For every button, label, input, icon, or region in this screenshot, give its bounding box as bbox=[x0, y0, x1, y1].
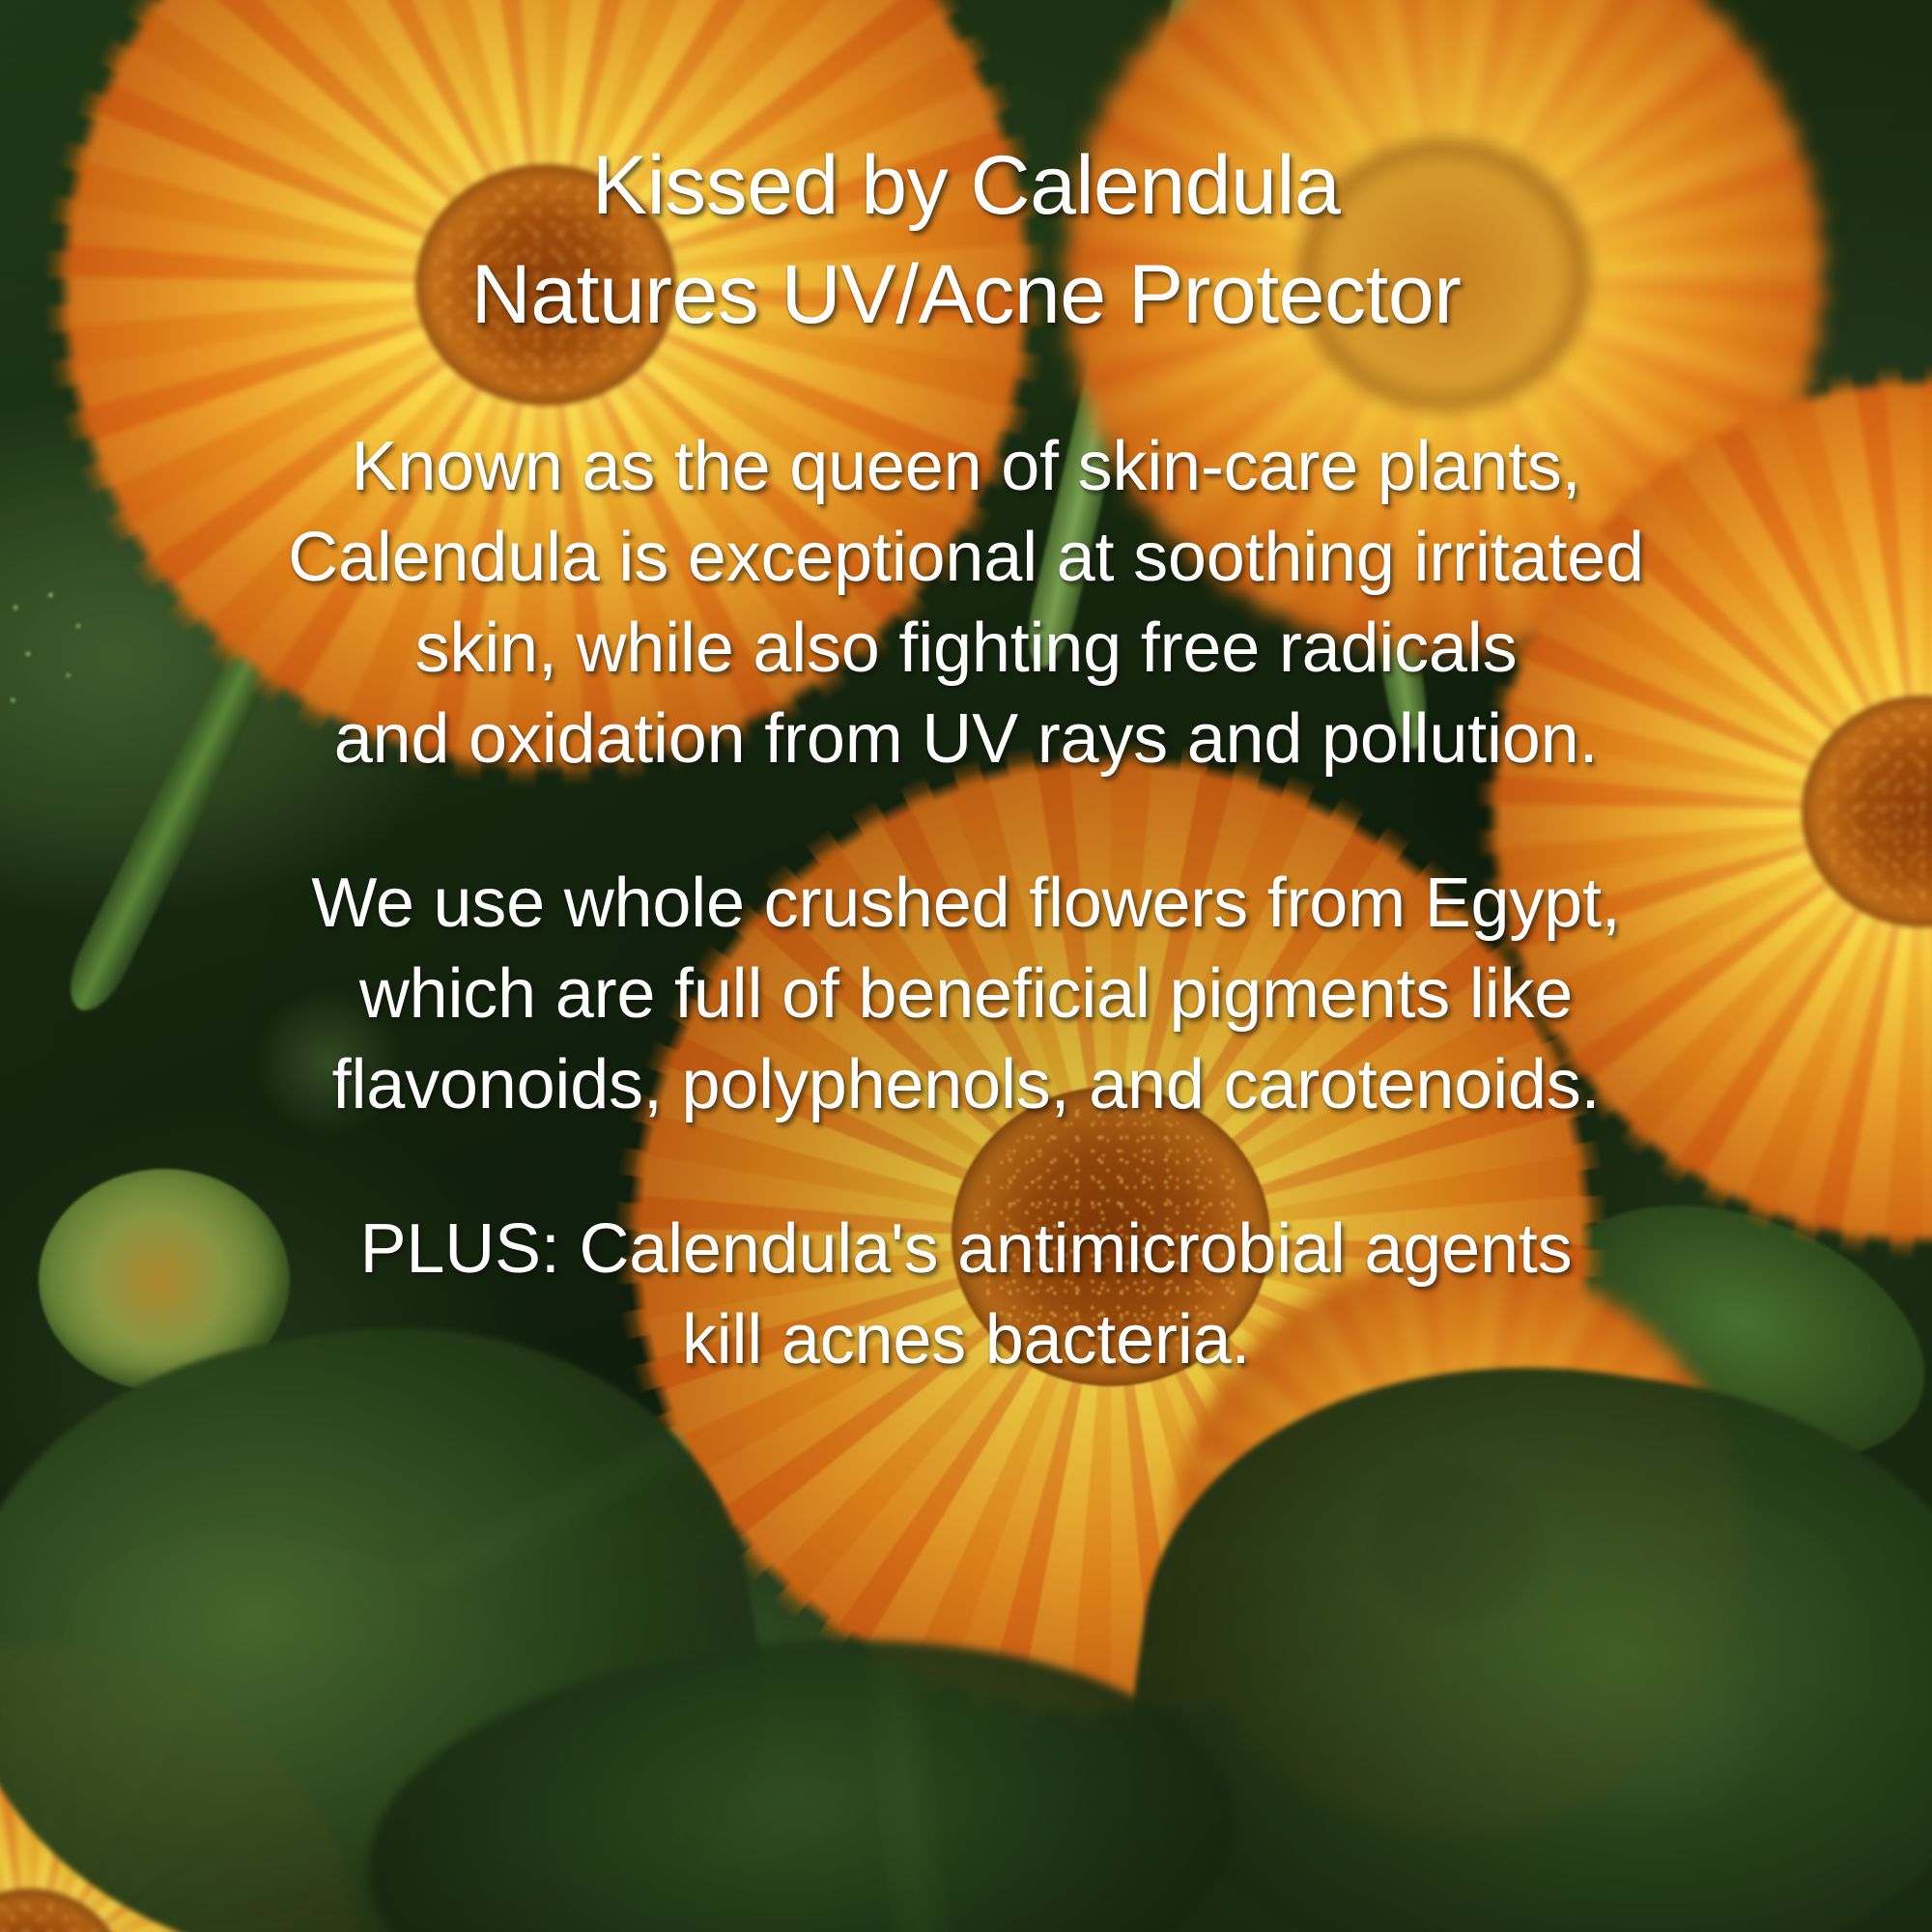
body-line: We use whole crushed flowers from Egypt, bbox=[63, 858, 1869, 949]
body-line: Known as the queen of skin-care plants, bbox=[63, 421, 1869, 512]
paragraph-queen-of-skincare: Known as the queen of skin-care plants, … bbox=[63, 421, 1869, 784]
headline-line-1: Kissed by Calendula bbox=[592, 139, 1341, 232]
text-overlay: Kissed by Calendula Natures UV/Acne Prot… bbox=[0, 0, 1932, 1932]
body-copy: Known as the queen of skin-care plants, … bbox=[63, 421, 1869, 1385]
calendula-promo-graphic: Kissed by Calendula Natures UV/Acne Prot… bbox=[0, 0, 1932, 1932]
paragraph-whole-crushed-flowers: We use whole crushed flowers from Egypt,… bbox=[63, 858, 1869, 1130]
body-line: and oxidation from UV rays and pollution… bbox=[63, 694, 1869, 784]
paragraph-antimicrobial: PLUS: Calendula's antimicrobial agents k… bbox=[63, 1204, 1869, 1385]
body-line: kill acnes bacteria. bbox=[63, 1294, 1869, 1385]
body-line: flavonoids, polyphenols, and carotenoids… bbox=[63, 1039, 1869, 1130]
headline-line-2: Natures UV/Acne Protector bbox=[68, 241, 1864, 350]
body-line: PLUS: Calendula's antimicrobial agents bbox=[63, 1204, 1869, 1294]
headline: Kissed by Calendula Natures UV/Acne Prot… bbox=[68, 131, 1864, 350]
body-line: Calendula is exceptional at soothing irr… bbox=[63, 512, 1869, 603]
body-line: which are full of beneficial pigments li… bbox=[63, 949, 1869, 1039]
body-line: skin, while also fighting free radicals bbox=[63, 603, 1869, 694]
